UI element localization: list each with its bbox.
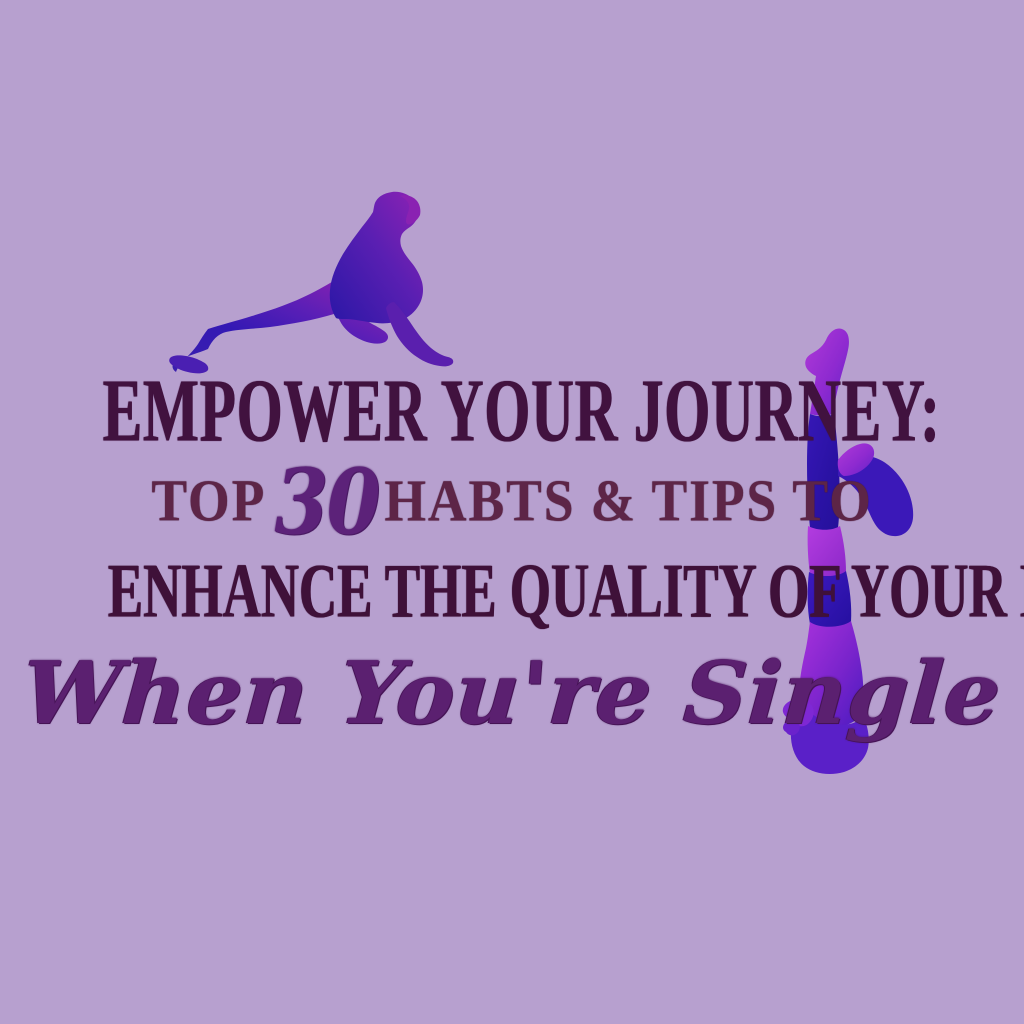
headline-line-2: TOP30HABTS & TIPS TO bbox=[31, 462, 994, 541]
poster-canvas: EMPOWER YOUR JOURNEY: TOP30HABTS & TIPS … bbox=[0, 0, 1024, 1024]
headline-line-2-prefix: TOP bbox=[151, 462, 266, 541]
headline-block: EMPOWER YOUR JOURNEY: TOP30HABTS & TIPS … bbox=[0, 372, 1024, 744]
headline-script-line: When You're Single bbox=[0, 644, 1024, 744]
upward-facing-dog-yoga-silhouette bbox=[168, 186, 454, 382]
habits-count: 30 bbox=[274, 468, 378, 540]
headline-line-1: EMPOWER YOUR JOURNEY: bbox=[102, 363, 921, 458]
headline-line-2-suffix: HABTS & TIPS TO bbox=[384, 462, 872, 541]
headline-line-3: ENHANCE THE QUALITY OF YOUR LIFE bbox=[108, 550, 917, 631]
